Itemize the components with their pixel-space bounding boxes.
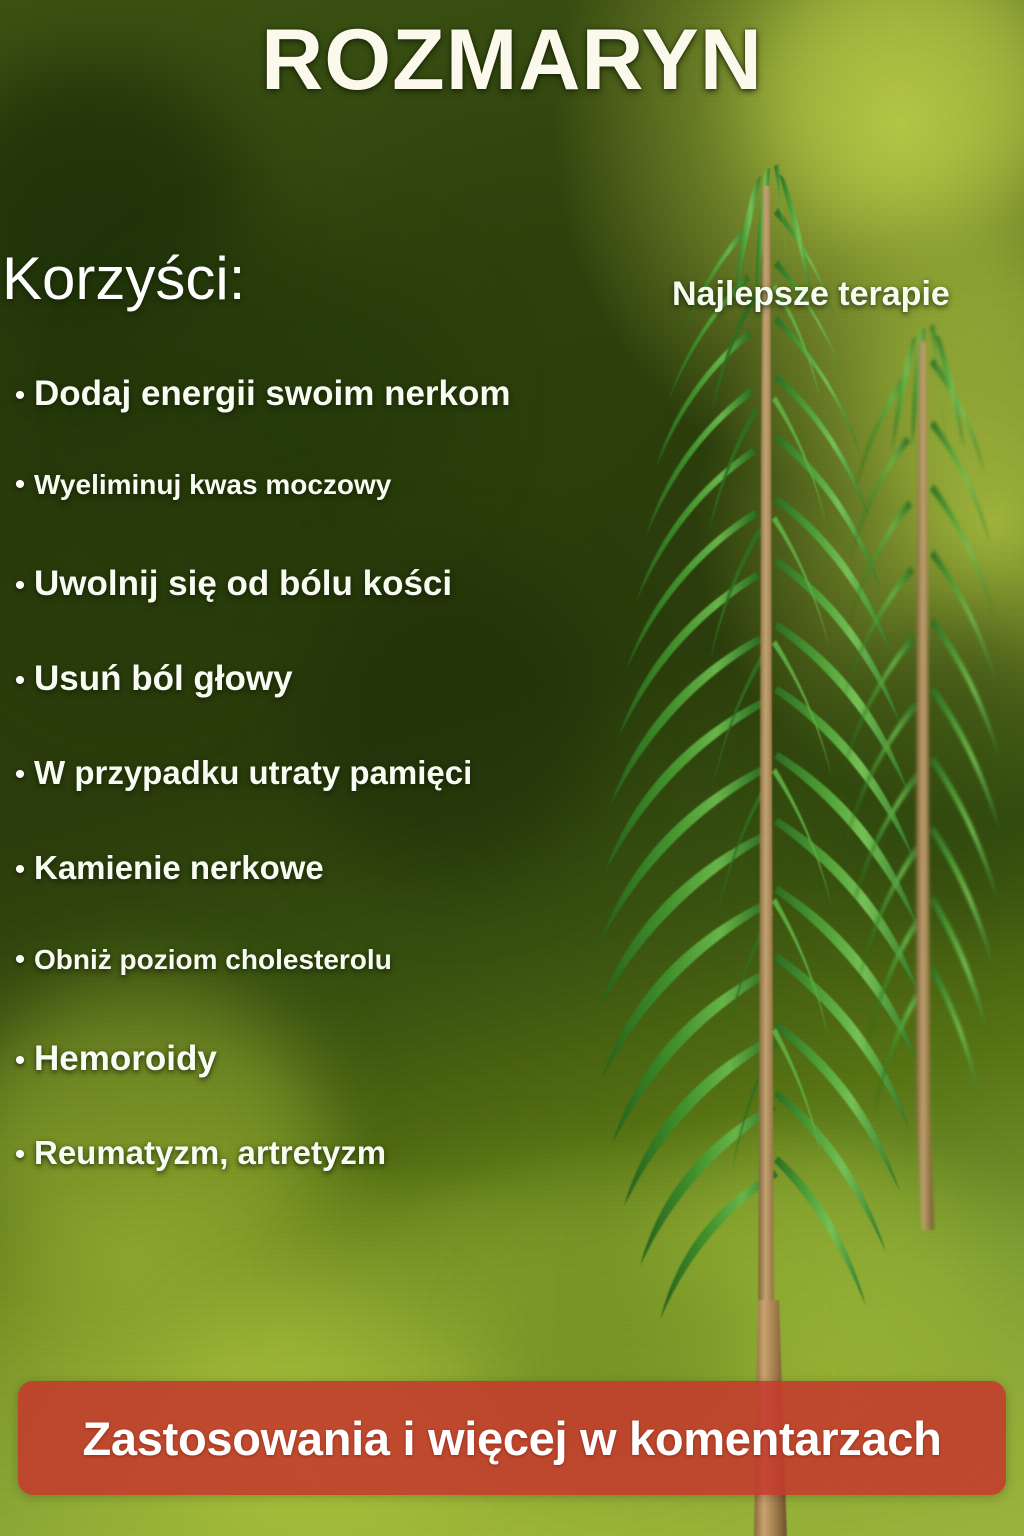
list-item: • Usuń ból głowy [0, 659, 660, 754]
content-layer: ROZMARYN Korzyści: Najlepsze terapie • D… [0, 0, 1024, 1536]
benefits-list: • Dodaj energii swoim nerkom • Wyeliminu… [0, 374, 660, 1229]
poster-canvas: ROZMARYN Korzyści: Najlepsze terapie • D… [0, 0, 1024, 1536]
bullet-icon: • [6, 571, 34, 601]
benefit-label: Obniż poziom cholesterolu [34, 944, 392, 976]
benefit-label: Reumatyzm, artretyzm [34, 1134, 386, 1172]
list-item: • Reumatyzm, artretyzm [0, 1134, 660, 1229]
list-item: • Hemoroidy [0, 1039, 660, 1134]
list-item: • Dodaj energii swoim nerkom [0, 374, 660, 469]
benefit-label: Usuń ból głowy [34, 659, 293, 699]
best-therapies-label: Najlepsze terapie [672, 275, 950, 314]
bullet-icon: • [6, 1046, 34, 1076]
bullet-icon: • [6, 945, 34, 975]
benefit-label: Dodaj energii swoim nerkom [34, 374, 511, 414]
benefits-heading: Korzyści: [2, 249, 245, 309]
bullet-icon: • [6, 760, 34, 790]
benefit-label: Uwolnij się od bólu kości [34, 564, 452, 604]
benefit-label: W przypadku utraty pamięci [34, 754, 472, 792]
list-item: • Uwolnij się od bólu kości [0, 564, 660, 659]
bullet-icon: • [6, 1140, 34, 1170]
list-item: • Obniż poziom cholesterolu [0, 944, 660, 1039]
comments-cta-label: Zastosowania i więcej w komentarzach [83, 1411, 942, 1466]
bullet-icon: • [6, 855, 34, 885]
list-item: • W przypadku utraty pamięci [0, 754, 660, 849]
list-item: • Kamienie nerkowe [0, 849, 660, 944]
benefit-label: Hemoroidy [34, 1039, 217, 1079]
page-title: ROZMARYN [0, 14, 1024, 107]
list-item: • Wyeliminuj kwas moczowy [0, 469, 660, 564]
bullet-icon: • [6, 470, 34, 500]
comments-cta-button[interactable]: Zastosowania i więcej w komentarzach [18, 1381, 1006, 1495]
bullet-icon: • [6, 666, 34, 696]
benefit-label: Wyeliminuj kwas moczowy [34, 469, 391, 501]
benefit-label: Kamienie nerkowe [34, 849, 324, 887]
bullet-icon: • [6, 381, 34, 411]
